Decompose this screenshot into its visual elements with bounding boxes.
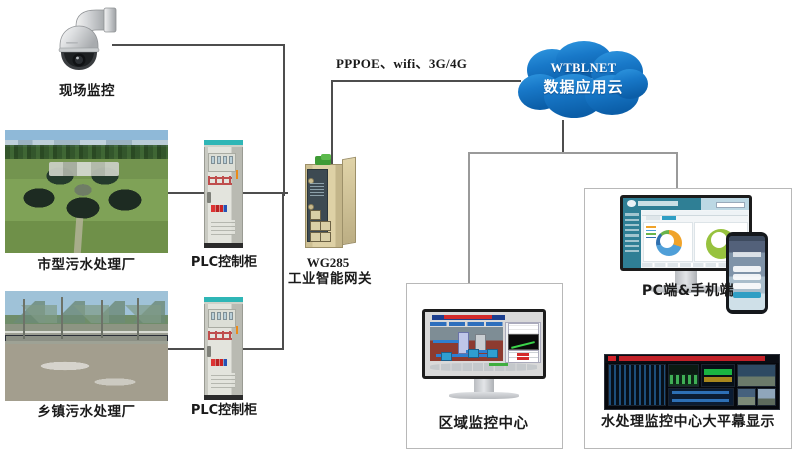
line-branch-bus — [468, 152, 677, 154]
line-riser-vertical — [282, 194, 284, 350]
plc-cabinet-icon — [204, 140, 243, 248]
scada-screen — [425, 312, 543, 376]
gateway-type-label: 工业智能网关 — [288, 272, 368, 288]
cloud-label-primary: WTBLNET — [512, 61, 655, 76]
plc-top-label: PLC控制柜 — [178, 256, 270, 271]
video-wall-icon — [604, 354, 780, 410]
camera-label: 现场监控 — [31, 84, 143, 100]
big-screen-label: 水处理监控中心大平幕显示 — [588, 414, 788, 430]
gateway-model-label: WG285 — [288, 256, 368, 271]
line-camera-to-trunk — [112, 44, 285, 46]
ptz-camera-icon — [52, 6, 122, 72]
line-branch-right — [676, 152, 678, 188]
line-plant-town-to-plc — [168, 348, 204, 350]
line-cloud-downlink — [562, 120, 564, 153]
wastewater-tank-photo — [5, 291, 168, 401]
wastewater-plant-aerial-photo — [5, 130, 168, 253]
topology-diagram: PPPOE、wifi、3G/4G WTBLNET 数据应用云 — [0, 0, 793, 457]
plant-city-label: 市型污水处理厂 — [5, 258, 168, 274]
pc-mobile-label: PC端&手机端 — [608, 283, 768, 299]
line-trunk-vertical — [283, 44, 285, 196]
plc-cabinet-icon — [204, 297, 243, 400]
industrial-gateway-icon — [296, 154, 358, 250]
plc-bottom-label: PLC控制柜 — [178, 404, 270, 419]
cloud-node: WTBLNET 数据应用云 — [512, 40, 655, 122]
smartphone-icon — [726, 232, 768, 314]
plant-town-label: 乡镇污水处理厂 — [5, 405, 168, 421]
cloud-label-secondary: 数据应用云 — [512, 76, 655, 97]
line-plc-bottom-to-riser — [243, 348, 284, 350]
desktop-monitor-icon — [422, 309, 546, 401]
region-center-label: 区域监控中心 — [406, 416, 561, 433]
line-branch-left — [468, 152, 470, 283]
line-plant-city-to-plc — [168, 192, 204, 194]
line-uplink-to-cloud — [331, 80, 521, 82]
link-type-label: PPPOE、wifi、3G/4G — [336, 57, 467, 72]
